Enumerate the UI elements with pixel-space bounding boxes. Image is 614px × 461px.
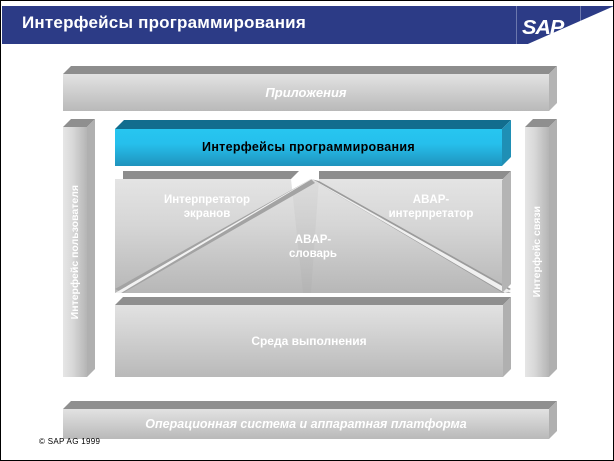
block-side-face bbox=[502, 171, 511, 293]
block-abap-interpreter-label: ABAP- интерпретатор bbox=[351, 193, 511, 222]
sap-logo: SAP bbox=[496, 6, 614, 44]
layer-applications: Приложения bbox=[63, 66, 565, 111]
block-top-face bbox=[63, 401, 557, 409]
slide-canvas: Интерфейсы программирования SAP Приложен… bbox=[0, 0, 614, 461]
block-top-face-right bbox=[319, 171, 511, 179]
logo-divider-left bbox=[516, 6, 517, 44]
block-top-face-left bbox=[123, 171, 299, 179]
layer-middle-group: Интерпретатор экранов ABAP- интерпретато… bbox=[115, 171, 519, 293]
pillar-user-interface: Интерфейс пользователя bbox=[63, 119, 103, 377]
pillar-communication-interface: Интерфейс связи bbox=[525, 119, 565, 377]
block-side-face bbox=[549, 119, 557, 377]
block-front-face: Операционная система и аппаратная платфо… bbox=[63, 409, 549, 439]
block-screen-interpreter-label: Интерпретатор экранов bbox=[127, 193, 287, 222]
block-top-face bbox=[63, 66, 557, 74]
sap-logo-text: SAP bbox=[522, 17, 563, 40]
layer-operating-system-label: Операционная система и аппаратная платфо… bbox=[145, 417, 466, 432]
layer-programming-interfaces: Интерфейсы программирования bbox=[115, 120, 519, 166]
block-side-face bbox=[503, 297, 511, 377]
slide-header: Интерфейсы программирования SAP bbox=[2, 6, 614, 44]
pillar-communication-interface-label: Интерфейс связи bbox=[531, 206, 543, 297]
block-front-face: Интерфейсы программирования bbox=[115, 129, 502, 166]
block-front-face: Интерфейс пользователя bbox=[63, 127, 87, 377]
block-abap-dictionary-label: ABAP- словарь bbox=[253, 233, 373, 262]
layer-runtime-environment: Среда выполнения bbox=[115, 297, 519, 377]
block-top-face bbox=[115, 297, 511, 305]
layer-runtime-environment-label: Среда выполнения bbox=[251, 334, 366, 348]
block-top-face bbox=[115, 120, 511, 129]
block-front-face: Среда выполнения bbox=[115, 305, 503, 377]
copyright-notice: © SAP AG 1999 bbox=[39, 437, 100, 446]
layer-operating-system: Операционная система и аппаратная платфо… bbox=[63, 401, 565, 439]
pillar-user-interface-label: Интерфейс пользователя bbox=[69, 185, 81, 319]
block-front-face: Интерфейс связи bbox=[525, 127, 549, 377]
layer-programming-interfaces-label: Интерфейсы программирования bbox=[202, 140, 415, 155]
page-title: Интерфейсы программирования bbox=[22, 13, 306, 33]
block-front-face: Приложения bbox=[63, 74, 549, 111]
block-side-face bbox=[87, 119, 95, 377]
layer-applications-label: Приложения bbox=[265, 85, 346, 100]
